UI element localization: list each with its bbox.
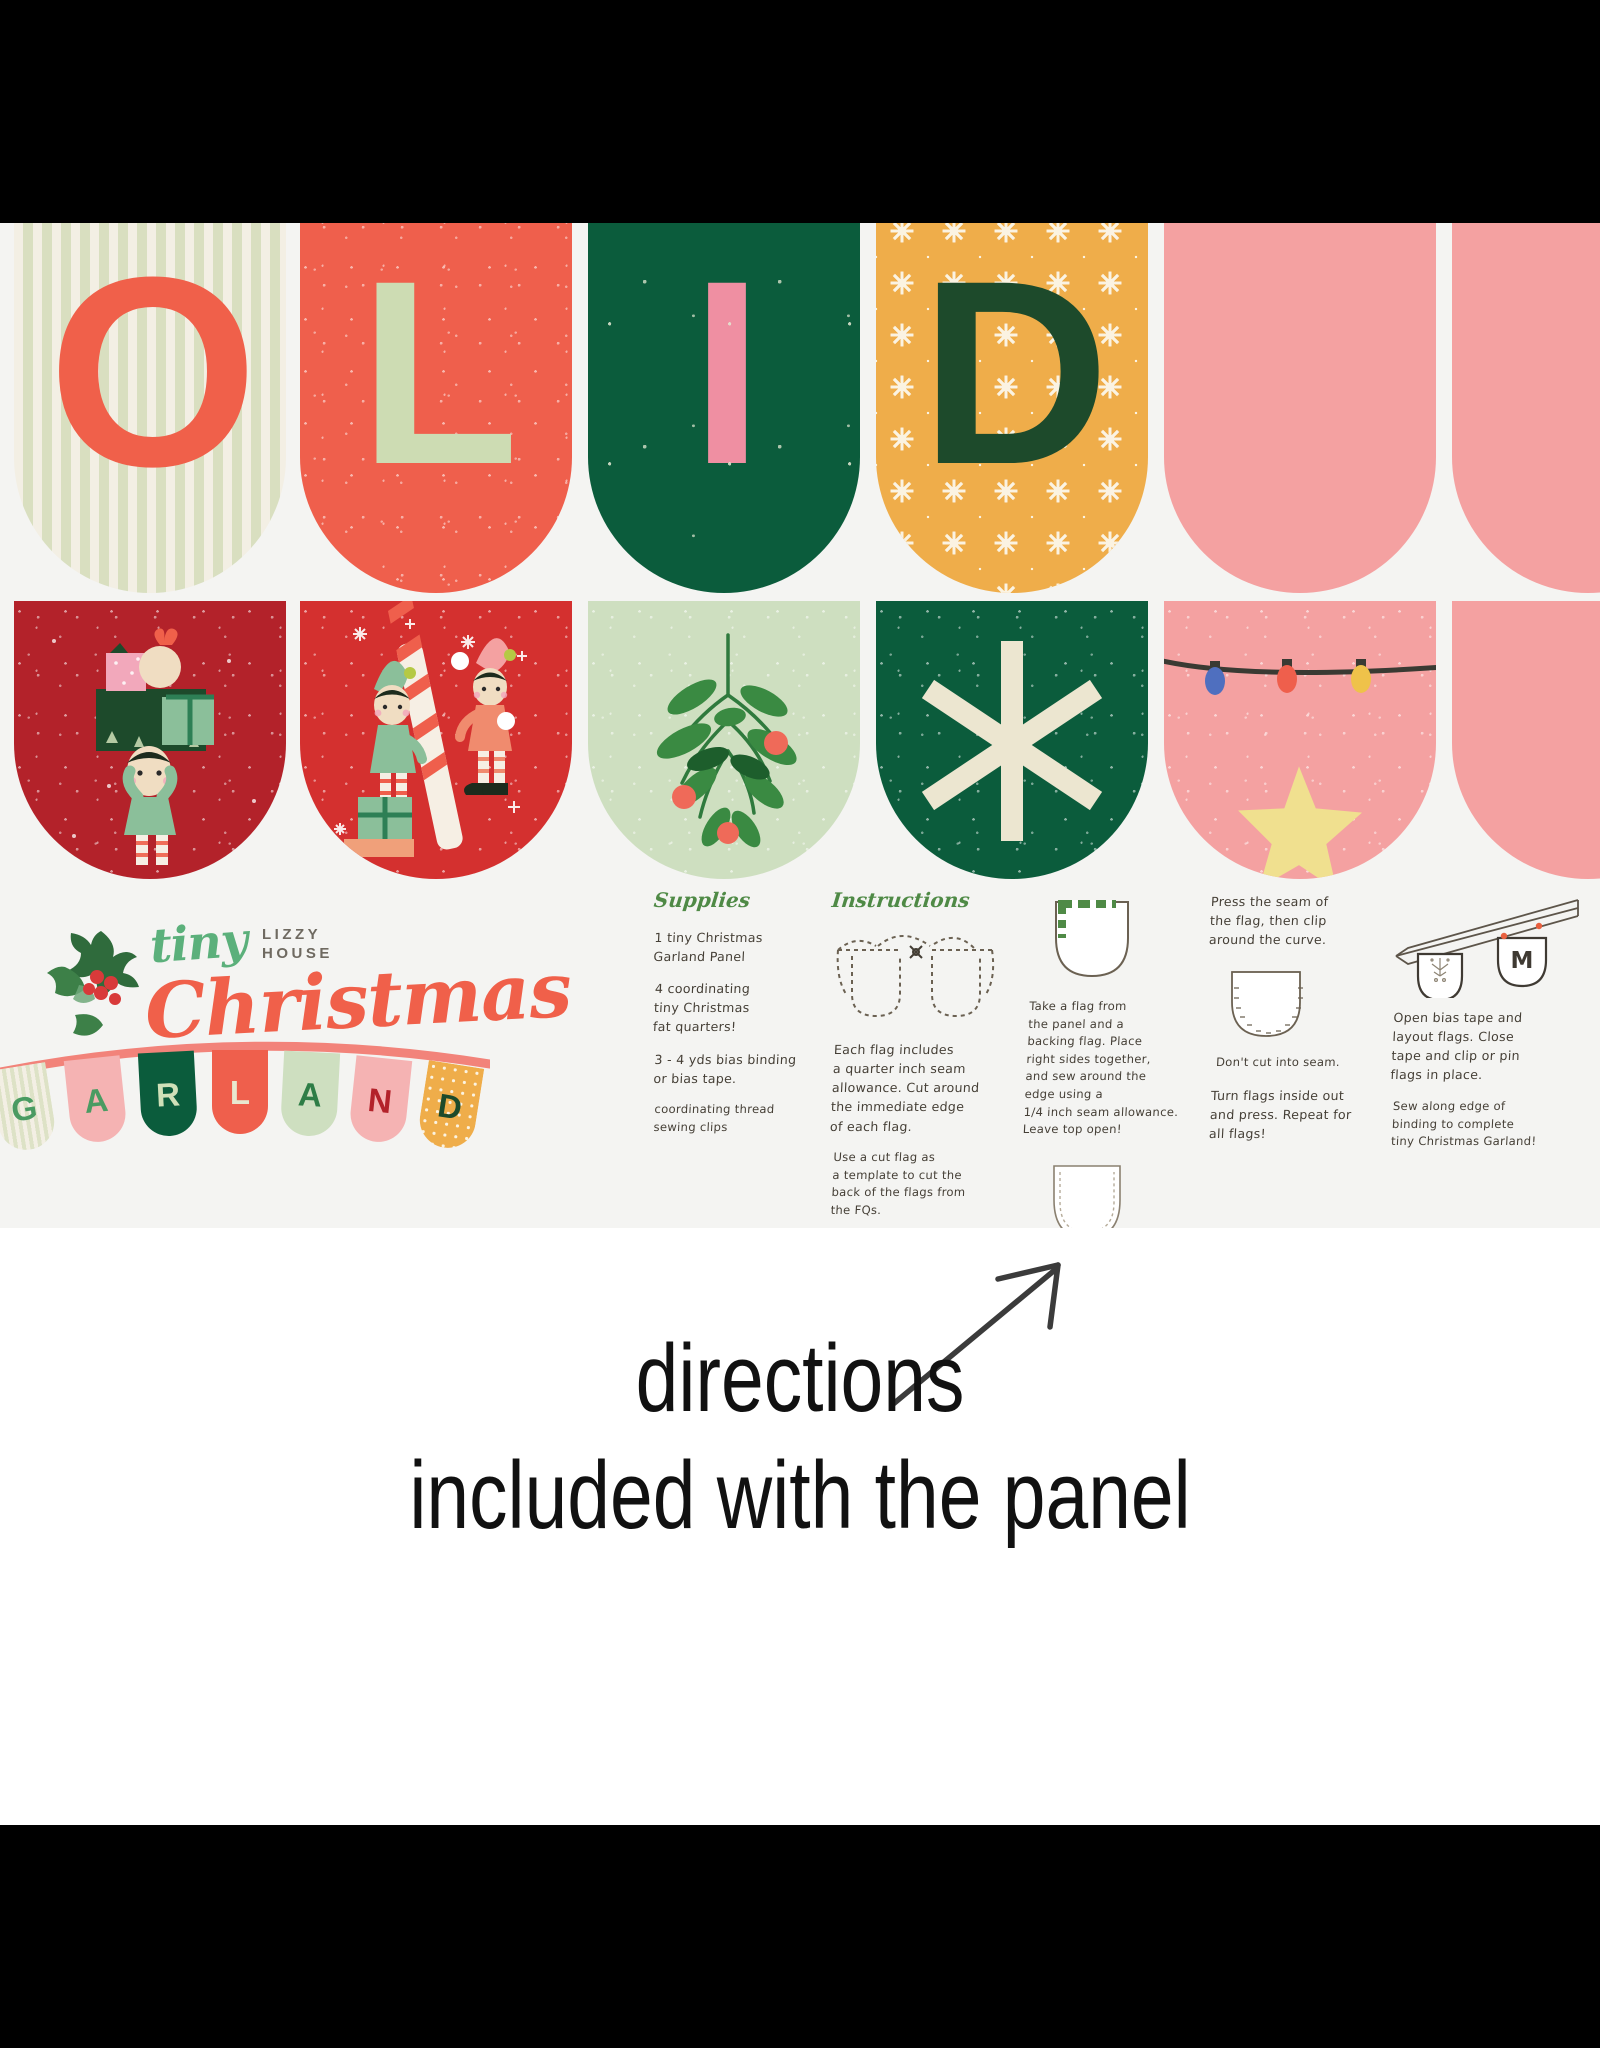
picture-flag-row: [0, 601, 1600, 881]
supplies-item: 3 - 4 yds bias binding or bias tape.: [653, 1050, 815, 1088]
supplies-item: coordinating thread sewing clips: [653, 1101, 815, 1136]
flag-panel-cut-lines-diagram: [832, 928, 1002, 1028]
elf-presents-illustration: [14, 601, 286, 879]
garland-letter: N: [366, 1082, 393, 1117]
letterbox-bar-bottom: [0, 1825, 1600, 2048]
picture-flag-elves-candycane: [300, 601, 572, 879]
garland-letter: A: [82, 1082, 109, 1117]
instruction-step-caption: Don't cut into seam.: [1216, 1054, 1377, 1072]
flag-sewn-top-open-diagram: [1046, 894, 1141, 986]
instructions-column-4: M Open bias tape and layout flags. Close…: [1392, 888, 1600, 1163]
letter-flag-d: D: [876, 223, 1148, 593]
letter-flag-i: I: [588, 223, 860, 593]
flag-outline-diagram: [1044, 1158, 1134, 1228]
instructions-column-1: Instructions Each flag includes a quart: [832, 888, 1012, 1228]
garland-flag-r: R: [138, 1051, 198, 1138]
fabric-panel-photo: O L I D: [0, 223, 1600, 1228]
instructions-heading: Instructions: [831, 888, 1014, 912]
garland-letter: R: [155, 1077, 181, 1111]
logo-brand-line1: LIZZY: [262, 926, 333, 945]
snowflake-illustration: [876, 601, 1148, 879]
logo-garland-graphic: G A R L A N: [0, 1040, 490, 1160]
supplies-column: Supplies 1 tiny Christmas Garland Panel …: [654, 888, 814, 1149]
garland-letter: A: [297, 1077, 323, 1111]
diagram-letter: M: [1511, 948, 1534, 974]
caption-line-2: included with the panel: [160, 1437, 1440, 1554]
picture-flag-snowflake: [876, 601, 1148, 879]
garland-flag-l: L: [212, 1050, 268, 1134]
letter-glyph: L: [300, 223, 572, 593]
instructions-column-2: Take a flag from the panel and a backing…: [1026, 888, 1204, 1228]
garland-flag-d: D: [416, 1060, 484, 1152]
screenshot-root: O L I D: [0, 0, 1600, 2048]
garland-flag-a2: A: [280, 1051, 340, 1138]
letter-glyph: I: [588, 223, 860, 593]
panel-logo: tiny LIZZY HOUSE Christmas G A: [0, 888, 500, 1188]
supplies-heading: Supplies: [653, 888, 816, 912]
letter-flag-l: L: [300, 223, 572, 593]
garland-flag-n: N: [348, 1055, 412, 1144]
caption-line-1: directions: [160, 1320, 1440, 1437]
flag-clipped-curve-diagram: [1222, 964, 1314, 1044]
supplies-item: 1 tiny Christmas Garland Panel: [653, 928, 815, 966]
supplies-item: 4 coordinating tiny Christmas fat quarte…: [652, 979, 815, 1036]
caption-text: directions included with the panel: [160, 1320, 1440, 1554]
letter-glyph: O: [14, 223, 286, 593]
letter-flag-row: O L I D: [0, 223, 1600, 663]
letter-glyph: D: [876, 223, 1148, 593]
instruction-step-text: Sew along edge of binding to complete ti…: [1391, 1098, 1600, 1151]
instruction-step-text: Turn flags inside out and press. Repeat …: [1208, 1086, 1377, 1143]
elves-candycane-illustration: [300, 601, 572, 879]
garland-flag-a1: A: [64, 1055, 128, 1144]
picture-flag-mistletoe: [588, 601, 860, 879]
christmas-lights-illustration: [1164, 601, 1436, 879]
instruction-step-text: Each flag includes a quarter inch seam a…: [829, 1040, 1014, 1136]
instructions-column-3: Press the seam of the flag, then clip ar…: [1210, 888, 1376, 1156]
garland-letter: D: [436, 1088, 465, 1124]
instruction-step-text: Use a cut flag as a template to cut the …: [830, 1149, 1014, 1219]
picture-flag-edge-crop: [1452, 601, 1600, 879]
instruction-step-text: Open bias tape and layout flags. Close t…: [1390, 1008, 1600, 1085]
letter-flag-partial-right: [1164, 223, 1436, 593]
picture-flag-elf-presents: [14, 601, 286, 879]
panel-info-strip: tiny LIZZY HOUSE Christmas G A: [0, 888, 1600, 1228]
mistletoe-illustration: [588, 601, 860, 879]
bias-tape-with-flags-diagram: M: [1392, 894, 1582, 998]
garland-letter: L: [230, 1076, 250, 1109]
letter-flag-o: O: [14, 223, 286, 593]
instruction-step-text: Take a flag from the panel and a backing…: [1022, 998, 1207, 1139]
letterbox-bar-top: [0, 0, 1600, 223]
instruction-step-text: Press the seam of the flag, then clip ar…: [1208, 892, 1377, 949]
picture-flag-lights-star: [1164, 601, 1436, 879]
letter-flag-edge-crop: [1452, 223, 1600, 593]
garland-letter: G: [9, 1090, 40, 1127]
